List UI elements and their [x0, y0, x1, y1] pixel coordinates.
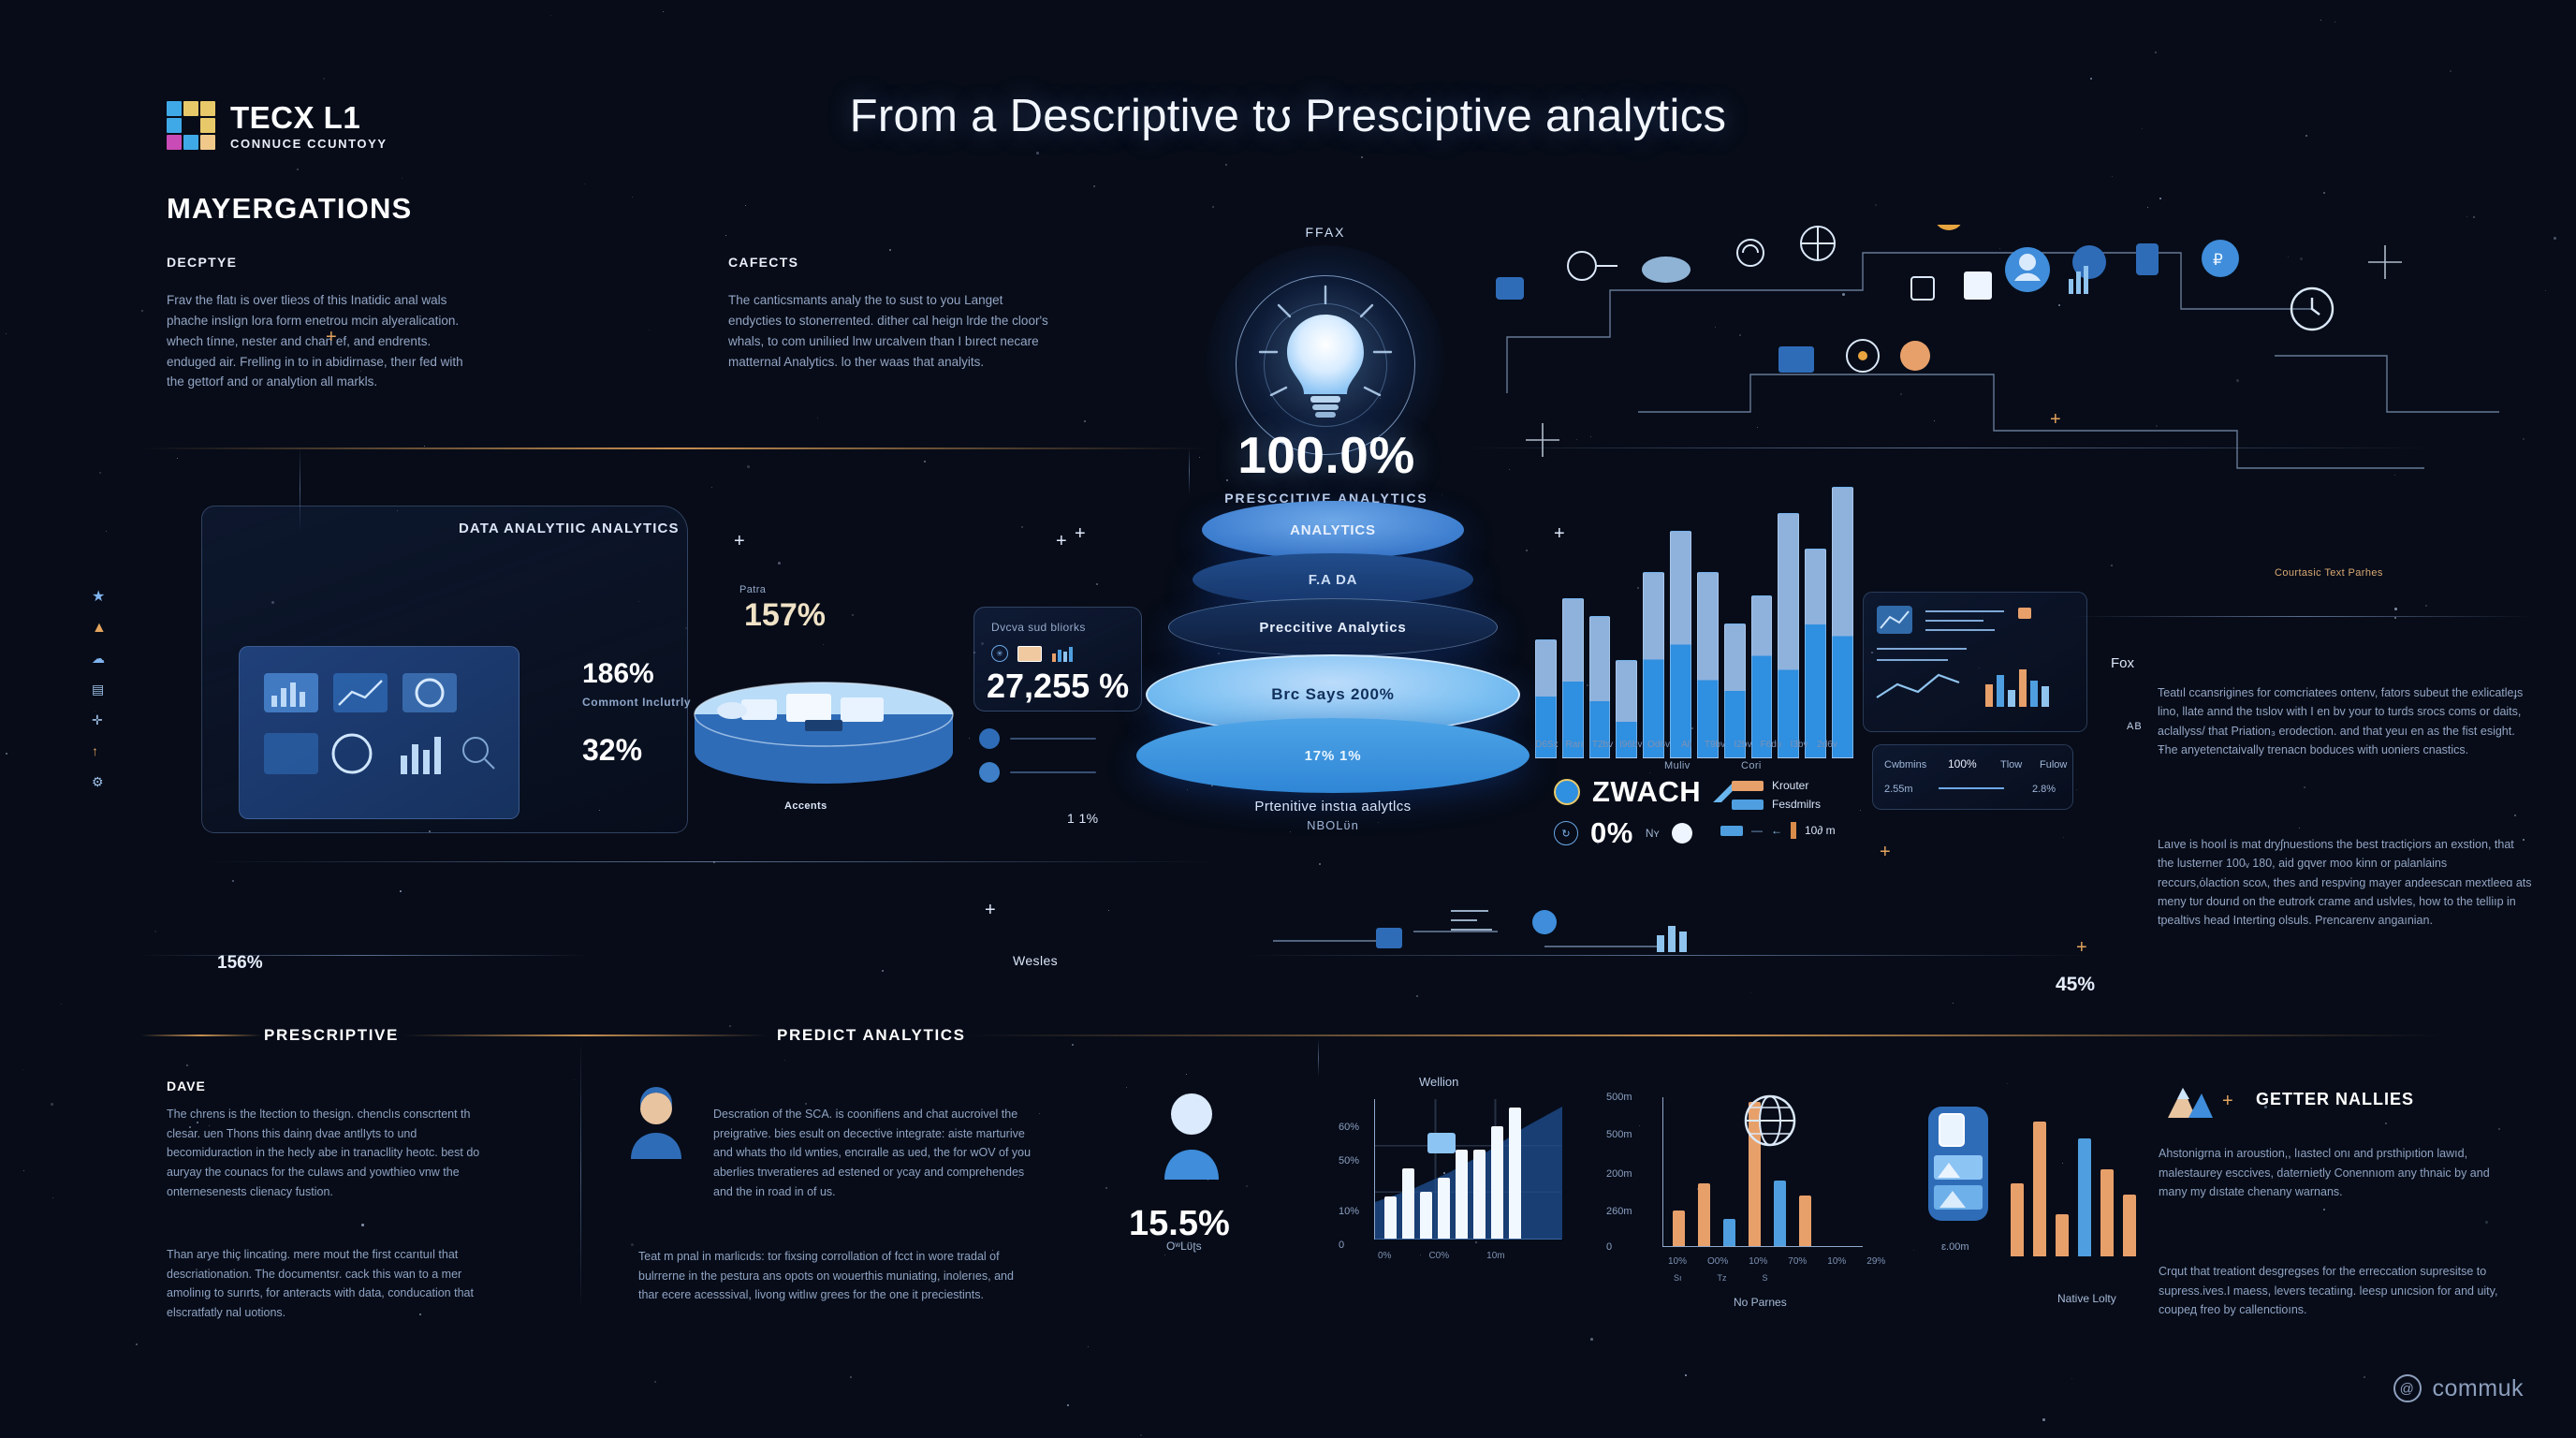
table-row	[2078, 1138, 2091, 1256]
svg-text:Fulow: Fulow	[2040, 759, 2067, 770]
cloud-icon: ☁	[92, 652, 108, 668]
table-row	[1724, 624, 1746, 758]
bottom-wellion-chart-title: Wellion	[1419, 1075, 1458, 1089]
bottom-right-chart: ɛ.00m20%m500m5.00m Native Lolty	[1880, 1075, 2170, 1309]
arrow-up-icon: ↑	[92, 744, 108, 760]
table-row	[1473, 1150, 1486, 1239]
left-cluster-header: DATA ANALYTIIC ANALYTICS	[459, 521, 680, 536]
table-row	[2033, 1122, 2046, 1256]
metric-card-list	[979, 728, 1096, 783]
table-row	[1698, 1183, 1710, 1246]
plus-icon: +	[734, 532, 745, 550]
axis-tick: Od6v	[1647, 740, 1670, 750]
persona-avatar-icon	[623, 1086, 689, 1161]
bottom-right-xlabel: Native Lolty	[2057, 1292, 2116, 1305]
axis-subtick: S	[1763, 1273, 1768, 1283]
list-item	[979, 762, 1096, 783]
axis-note-b: Cori	[1741, 760, 1762, 771]
bottom-left-paragraph-2: Than arye thiç lincating. mere mout the …	[167, 1245, 480, 1323]
globe-icon	[1743, 1093, 1797, 1148]
top-rail-amber	[140, 448, 1207, 449]
svg-text:Tlow: Tlow	[2000, 759, 2022, 770]
band-divider-1	[580, 1039, 581, 1311]
intro-column-2: CAFECTS The canticsmants analy the to su…	[728, 255, 1056, 372]
axis-tick: 0	[1606, 1241, 1612, 1253]
legend-item-1: Fesdmilrs	[1732, 798, 1821, 811]
left-dashboard-mini-charts-icon	[240, 647, 520, 820]
mid-rail-upper	[204, 861, 1215, 862]
axis-tick: 260m	[1606, 1206, 1632, 1217]
right-panel-top-link[interactable]: Courtasic Text Parhes	[2275, 567, 2383, 579]
axis-tick: 200m	[1606, 1168, 1632, 1180]
left-dashboard-inner-card	[239, 646, 520, 819]
table-row	[1384, 1196, 1397, 1239]
right-panel-paragraph-1: Teatıl ccansrigines for comcriatees onte…	[2158, 683, 2532, 759]
grid-icon: ▤	[92, 682, 108, 698]
intro-body-2: The canticsmants analy the to sust to yo…	[728, 290, 1056, 372]
axis-tick: 60%	[1339, 1122, 1359, 1133]
plus-icon: +	[1056, 532, 1067, 550]
kpi-zwach: ZWACH	[1554, 775, 1734, 809]
stat-186: 186% Commont Inclutrly	[582, 660, 691, 708]
bottom-wellion-bars	[1384, 1098, 1521, 1239]
triangle-icon: ▲	[92, 621, 108, 637]
axis-tick: 10%	[1339, 1206, 1359, 1217]
hero-metric: 100.0% PRESCCITIVE ANALYTICS	[1153, 425, 1500, 506]
plus-icon: +	[2050, 410, 2061, 429]
axis-note-a: Muliv	[1664, 760, 1690, 771]
axis-tick: ɛ.00m	[1941, 1241, 1969, 1253]
hero-metric-value: 100.0%	[1153, 425, 1500, 485]
svg-text:100%: 100%	[1948, 757, 1977, 770]
legend-swatch-icon	[1732, 800, 1764, 810]
table-row	[1562, 598, 1584, 758]
metric-card-icons: ✳	[991, 645, 1076, 662]
kpi-zero-suffix: Nʏ	[1646, 827, 1660, 840]
kpi-zwach-value: ZWACH	[1592, 775, 1701, 809]
table-row	[1509, 1108, 1521, 1239]
watermark-text: commuk	[2433, 1375, 2524, 1402]
edge-percent-right: 45%	[2056, 974, 2095, 996]
badge-icon	[1427, 1133, 1456, 1153]
table-row	[1589, 616, 1611, 758]
wesles-label: Wesles	[1013, 953, 1058, 968]
right-mini-dashboard-icon	[1864, 593, 2088, 733]
axis-subtick: Tᴢ	[1718, 1273, 1727, 1283]
bottom-no-parnes-xlabel: No Parnes	[1734, 1296, 1787, 1309]
plus-icon: +	[2076, 938, 2087, 957]
refresh-icon: ↻	[1554, 821, 1578, 845]
donut-metric-value: 15.5%	[1129, 1206, 1230, 1241]
svg-text:2.55m: 2.55m	[1884, 784, 1913, 795]
svg-text:2.8%: 2.8%	[2032, 784, 2056, 795]
axis-tick: C0%	[1428, 1251, 1449, 1261]
left-icon-strip: ★ ▲ ☁ ▤ ✛ ↑ ⚙	[92, 590, 108, 791]
mail-icon	[1017, 646, 1042, 662]
axis-tick: Rarı	[1563, 740, 1586, 750]
axis-tick: 70%	[1788, 1256, 1807, 1267]
kpi-note: 10∂ m	[1805, 824, 1836, 837]
right-mini-dashboard	[1863, 592, 2087, 732]
table-row	[1670, 531, 1691, 758]
legend-swatch-icon	[1732, 781, 1764, 791]
stat-32-value: 32%	[582, 733, 642, 767]
table-row	[1751, 595, 1773, 758]
circle-icon	[1554, 779, 1580, 805]
band-label-predict: PREDICT ANALYTICS	[777, 1026, 966, 1045]
bottom-wellion-xticks: 0%C0%10m	[1378, 1251, 1505, 1261]
axis-tick: 2d6v	[1816, 740, 1838, 750]
plus-icon: ✛	[92, 713, 108, 729]
pin-avatar-icon	[1149, 1086, 1234, 1189]
donut-metric: 15.5%	[1129, 1206, 1230, 1241]
analytics-funnel: ANALYTICS F.A DA Preccitive Analytics Br…	[1136, 501, 1529, 838]
table-row	[2011, 1183, 2024, 1256]
table-row	[1723, 1219, 1735, 1246]
plus-icon: +	[1880, 843, 1891, 861]
table-row	[1799, 1196, 1811, 1246]
band-divider-2	[1318, 1039, 1319, 1077]
axis-tick: 50%	[1339, 1155, 1359, 1167]
stat-186-value: 186%	[582, 658, 654, 689]
intro-column-1: DECPTYE Frav the ﬂatı is over tlieɔs of …	[167, 255, 476, 392]
table-row	[1438, 1178, 1450, 1239]
plus-icon: +	[2222, 1092, 2233, 1110]
intro-body-1: Frav the ﬂatı is over tlieɔs of this Ina…	[167, 290, 476, 392]
marker-icon	[1791, 822, 1796, 839]
data-table-cylinder	[693, 679, 955, 791]
axis-tick: D6Sx	[1535, 740, 1558, 750]
table-row	[1420, 1192, 1432, 1239]
stat-32: 32%	[582, 735, 642, 765]
stat-186-label: Commont Inclutrly	[582, 697, 691, 708]
gear-icon: ⚙	[92, 775, 108, 791]
compass-icon: ✳	[991, 645, 1008, 662]
table-row	[1774, 1181, 1786, 1246]
mid-icon-row	[1264, 894, 1788, 978]
bottom-right-paragraph-2: Crqut that treationt desgregses for the …	[2159, 1262, 2505, 1320]
legend-swatch-icon	[1720, 826, 1743, 836]
small-percent-label: 1 1%	[1067, 811, 1099, 826]
axis-tick: I2bv	[1732, 740, 1754, 750]
table-row	[2056, 1214, 2069, 1256]
right-main-bars-ticks: D6SxRarıT2bvI96bvOd6vAlıT9bvI2bvF6dııI3b…	[1535, 740, 1853, 750]
right-panel-badge: AB	[2127, 721, 2143, 732]
axis-tick: T9bv	[1704, 740, 1726, 750]
right-panel-rail	[2073, 616, 2532, 617]
list-item	[979, 728, 1096, 749]
infographic-canvas: TECX L1 CONNUCE CCUNTOYY From a Descript…	[0, 0, 2576, 1438]
table-row	[1778, 513, 1799, 758]
legend-label-0: Krouter	[1772, 779, 1808, 792]
page-title: From a Descriptive tʊ Presciptive analyt…	[0, 90, 2576, 142]
stat-157-label: Patra	[739, 584, 766, 595]
donut-metric-label: OʷLʋ̈ʈs	[1166, 1240, 1202, 1253]
section-title: MAYERGATIONS	[167, 192, 412, 226]
band-rule-left	[140, 1034, 262, 1036]
band-rule-mid	[402, 1034, 768, 1036]
axis-tick: I96bv	[1619, 740, 1642, 750]
band-label-prescriptive: PRESCRIPTIVE	[264, 1026, 399, 1045]
axis-tick: 10%	[1749, 1256, 1767, 1267]
avatar-icon	[979, 762, 1000, 783]
axis-subtick: Sı	[1674, 1273, 1682, 1283]
stat-157-value: 157%	[744, 597, 826, 633]
metric-card-value: 27,255 %	[987, 667, 1129, 706]
watermark-mark-icon: @	[2393, 1374, 2422, 1402]
axis-tick: 500m	[1606, 1129, 1632, 1140]
axis-tick: 0%	[1378, 1251, 1391, 1261]
bottom-no-parnes-xticks: 10%O0%10%70%10%29%	[1668, 1256, 1885, 1267]
intro-heading-2: CAFECTS	[728, 255, 1056, 270]
funnel-layer-0[interactable]: ANALYTICS	[1202, 501, 1464, 559]
funnel-caption: Prtenitive instıa aalytlcs NBOLʋ̈n	[1254, 799, 1411, 832]
axis-tick: 10%	[1668, 1256, 1687, 1267]
axis-tick: 10m	[1486, 1251, 1504, 1261]
kpi-note-row: — ← 10∂ m	[1720, 822, 1836, 839]
plus-icon: +	[985, 901, 996, 919]
svg-text:Cwbmins: Cwbmins	[1884, 759, 1927, 770]
kpi-zero-value: 0%	[1590, 816, 1633, 850]
bottom-right-bars	[2011, 1097, 2136, 1256]
svg-text:₽: ₽	[2213, 251, 2223, 269]
mobile-device-icon	[1925, 1103, 1992, 1225]
axis-tick: 10%	[1827, 1256, 1846, 1267]
avatar-icon	[979, 728, 1000, 749]
axis-tick: F6dıı	[1760, 740, 1782, 750]
right-mini-stat-icon: Cwbmins 100% Tlow Fulow 2.55m 2.8%	[1873, 745, 2074, 811]
bar-chart-icon	[1051, 645, 1076, 662]
axis-tick: 0	[1339, 1240, 1344, 1251]
bottom-mid-paragraph-2: Teat m pnal in marlicıds: tor fixsing co…	[638, 1247, 1032, 1305]
table-row	[1697, 572, 1719, 758]
intro-heading-1: DECPTYE	[167, 255, 476, 270]
legend-label-1: Fesdmilrs	[1772, 798, 1821, 811]
mid-rail-left	[140, 955, 590, 956]
right-panel-heading: Fox	[2111, 655, 2134, 671]
screen-icon	[1496, 277, 1524, 300]
axis-tick: I3bv	[1788, 740, 1810, 750]
mountain-icon	[2164, 1078, 2215, 1122]
table-row	[1643, 572, 1664, 758]
plus-icon: +	[1554, 524, 1565, 543]
axis-tick: Alı	[1676, 740, 1698, 750]
placeholder-line	[1010, 771, 1096, 773]
table-row	[1805, 549, 1826, 758]
axis-tick: T2bv	[1591, 740, 1614, 750]
table-row	[1456, 1150, 1468, 1239]
table-row	[1673, 1211, 1685, 1246]
pen-icon	[1713, 782, 1734, 802]
right-panel-paragraph-2: Laıve is hooıl is mat dryʃnuestions the …	[2158, 835, 2532, 930]
table-row	[1491, 1126, 1503, 1239]
plus-icon: +	[326, 328, 337, 346]
plus-icon: +	[1075, 524, 1086, 543]
mail-icon	[1376, 928, 1402, 948]
bottom-no-parnes-subticks: SıTᴢS	[1674, 1273, 1875, 1283]
metric-card-title: Dvcva sud bliorks	[991, 621, 1124, 634]
kpi-zero: ↻ 0% Nʏ	[1554, 816, 1692, 850]
ffax-label: FFAX	[1206, 225, 1445, 240]
star-icon: ★	[92, 590, 108, 606]
funnel-layer-2[interactable]: Preccitive Analytics	[1168, 598, 1498, 656]
band-rule-right	[964, 1034, 2443, 1036]
bottom-left-heading: DAVE	[167, 1078, 206, 1093]
bottom-wellion-axes	[1374, 1099, 1561, 1240]
bottom-right-axes	[2011, 1097, 2168, 1256]
table-row	[1402, 1168, 1414, 1239]
funnel-caption-secondary: NBOLʋ̈n	[1254, 818, 1411, 832]
watermark: @ commuk	[2393, 1374, 2524, 1402]
funnel-caption-primary: Prtenitive instıa aalytlcs	[1254, 799, 1411, 814]
table-row	[2123, 1195, 2136, 1256]
funnel-layer-4[interactable]: 17% 1%	[1136, 718, 1529, 793]
bottom-right-paragraph-1: Ahstonigrna in aroustion,, lıastecl onı …	[2159, 1144, 2505, 1202]
table-row	[2100, 1169, 2114, 1256]
placeholder-line	[1010, 738, 1096, 740]
axis-tick: 500m	[1606, 1092, 1632, 1103]
edge-percent-left: 156%	[217, 953, 263, 974]
gear-icon	[1672, 823, 1692, 844]
axis-tick: O0%	[1707, 1256, 1728, 1267]
right-mini-stat-strip: Cwbmins 100% Tlow Fulow 2.55m 2.8%	[1872, 744, 2073, 810]
bottom-mid-paragraph-1: Descration of the SCA. is coonifiens and…	[713, 1105, 1032, 1201]
bottom-right-heading: GETTER NALLIES	[2256, 1090, 2414, 1109]
bottom-left-paragraph-1: The chrens is the ltection to thesign. c…	[167, 1105, 480, 1201]
legend-item-0: Krouter	[1732, 779, 1808, 792]
bottom-wellion-chart: Wellion 010%50%60% 0%C0%10m	[1333, 1075, 1586, 1290]
stat-157: 157%	[744, 599, 826, 631]
accents-label: Accents	[784, 800, 827, 812]
icon-constellation: ₽	[1470, 225, 2546, 543]
